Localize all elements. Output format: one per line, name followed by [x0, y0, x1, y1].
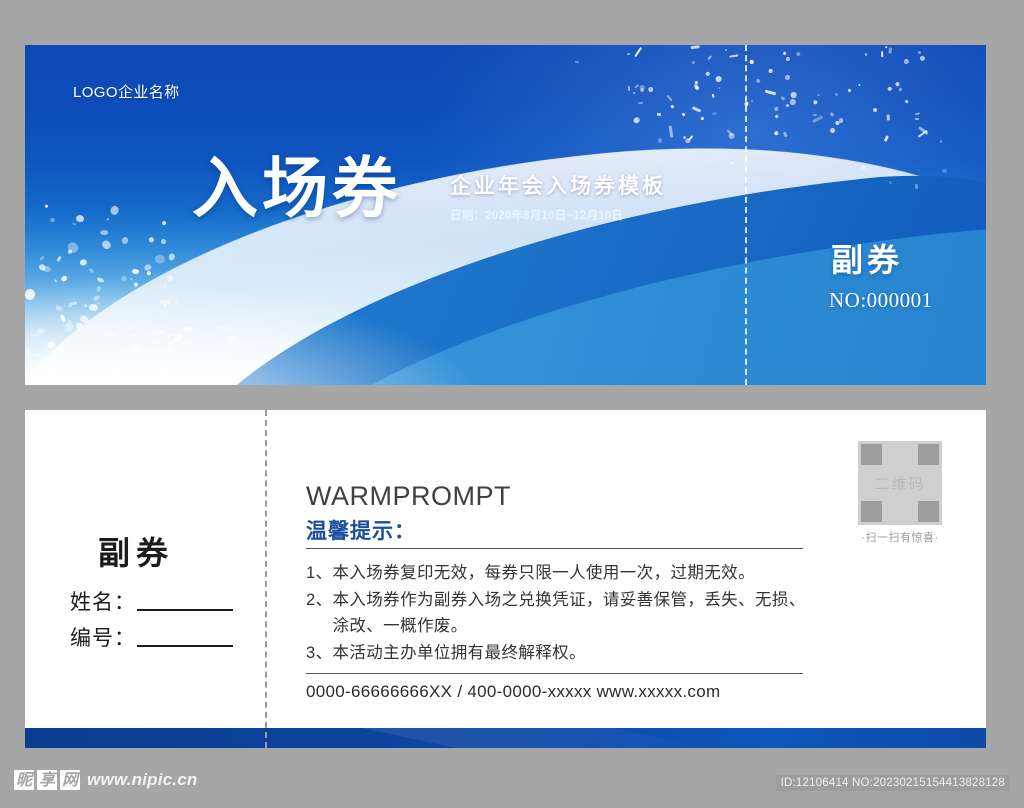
name-field[interactable]: 姓名：: [70, 586, 233, 616]
company-logo-text: LOGO企业名称: [73, 81, 180, 102]
term-text: 本入场券作为副券入场之兑换凭证，请妥善保管，丢失、无损、涂改、一概作废。: [332, 587, 816, 640]
divider-top: [306, 548, 803, 549]
term-item: 2、本入场券作为副券入场之兑换凭证，请妥善保管，丢失、无损、涂改、一概作废。: [306, 587, 816, 640]
watermark-bar: 昵享网 www.nipic.cn ID:12106414 NO:20230215…: [0, 760, 1024, 808]
bottom-left-glow: [25, 269, 525, 385]
code-field-label: 编号：: [70, 627, 136, 650]
contact-info: 0000-66666666XX / 400-0000-xxxxx www.xxx…: [306, 682, 720, 702]
screenshot-root: LOGO企业名称 入场券 企业年会入场券模板 日期：2020年8月10日~12月…: [0, 0, 1024, 808]
qr-caption: ·扫一扫有惊喜·: [852, 529, 948, 545]
terms-list: 1、本入场券复印无效，每券只限一人使用一次，过期无效。2、本入场券作为副券入场之…: [306, 560, 816, 667]
term-text: 本活动主办单位拥有最终解释权。: [332, 640, 816, 667]
serial-number-main: NO:000001: [566, 380, 679, 385]
qr-code-placeholder[interactable]: 二维码: [858, 441, 942, 525]
code-field-blank[interactable]: [137, 645, 233, 647]
subtitle-group: 企业年会入场券模板 日期：2020年8月10日~12月10日: [450, 170, 666, 223]
page-title: 入场券: [192, 157, 402, 223]
watermark-char: 昵: [14, 770, 34, 790]
stub-title-top: 副券: [831, 235, 903, 281]
divider-bottom: [306, 673, 803, 674]
name-field-blank[interactable]: [137, 609, 233, 611]
term-index: 2、: [306, 587, 332, 640]
code-field[interactable]: 编号：: [70, 622, 233, 652]
perforation-line-bottom: [265, 410, 267, 748]
watermark-id-text: ID:12106414 NO:20230215154413828128: [776, 775, 1010, 791]
watermark-brand-chars: 昵享网: [14, 770, 80, 790]
subtitle: 企业年会入场券模板: [450, 170, 666, 200]
watermark-logo: 昵享网 www.nipic.cn: [14, 770, 197, 790]
term-text: 本入场券复印无效，每券只限一人使用一次，过期无效。: [332, 560, 816, 587]
name-field-label: 姓名：: [70, 591, 136, 614]
event-date: 日期：2020年8月10日~12月10日: [450, 207, 666, 223]
stub-title-bottom: 副券: [98, 528, 174, 574]
term-item: 3、本活动主办单位拥有最终解释权。: [306, 640, 816, 667]
ticket-top-blue: LOGO企业名称 入场券 企业年会入场券模板 日期：2020年8月10日~12月…: [25, 45, 986, 385]
stub-serial-number: NO:000001: [829, 288, 933, 313]
qr-placeholder-label: 二维码: [858, 441, 942, 525]
term-index: 1、: [306, 560, 332, 587]
perforation-line-top: [745, 45, 747, 385]
term-index: 3、: [306, 640, 332, 667]
warm-prompt-english: WARMPROMPT: [306, 481, 511, 512]
watermark-char: 享: [37, 770, 57, 790]
bottom-blue-bar: [25, 728, 986, 748]
watermark-char: 网: [60, 770, 80, 790]
term-item: 1、本入场券复印无效，每券只限一人使用一次，过期无效。: [306, 560, 816, 587]
watermark-url: www.nipic.cn: [87, 770, 197, 790]
warm-prompt-chinese: 温馨提示：: [306, 515, 416, 545]
